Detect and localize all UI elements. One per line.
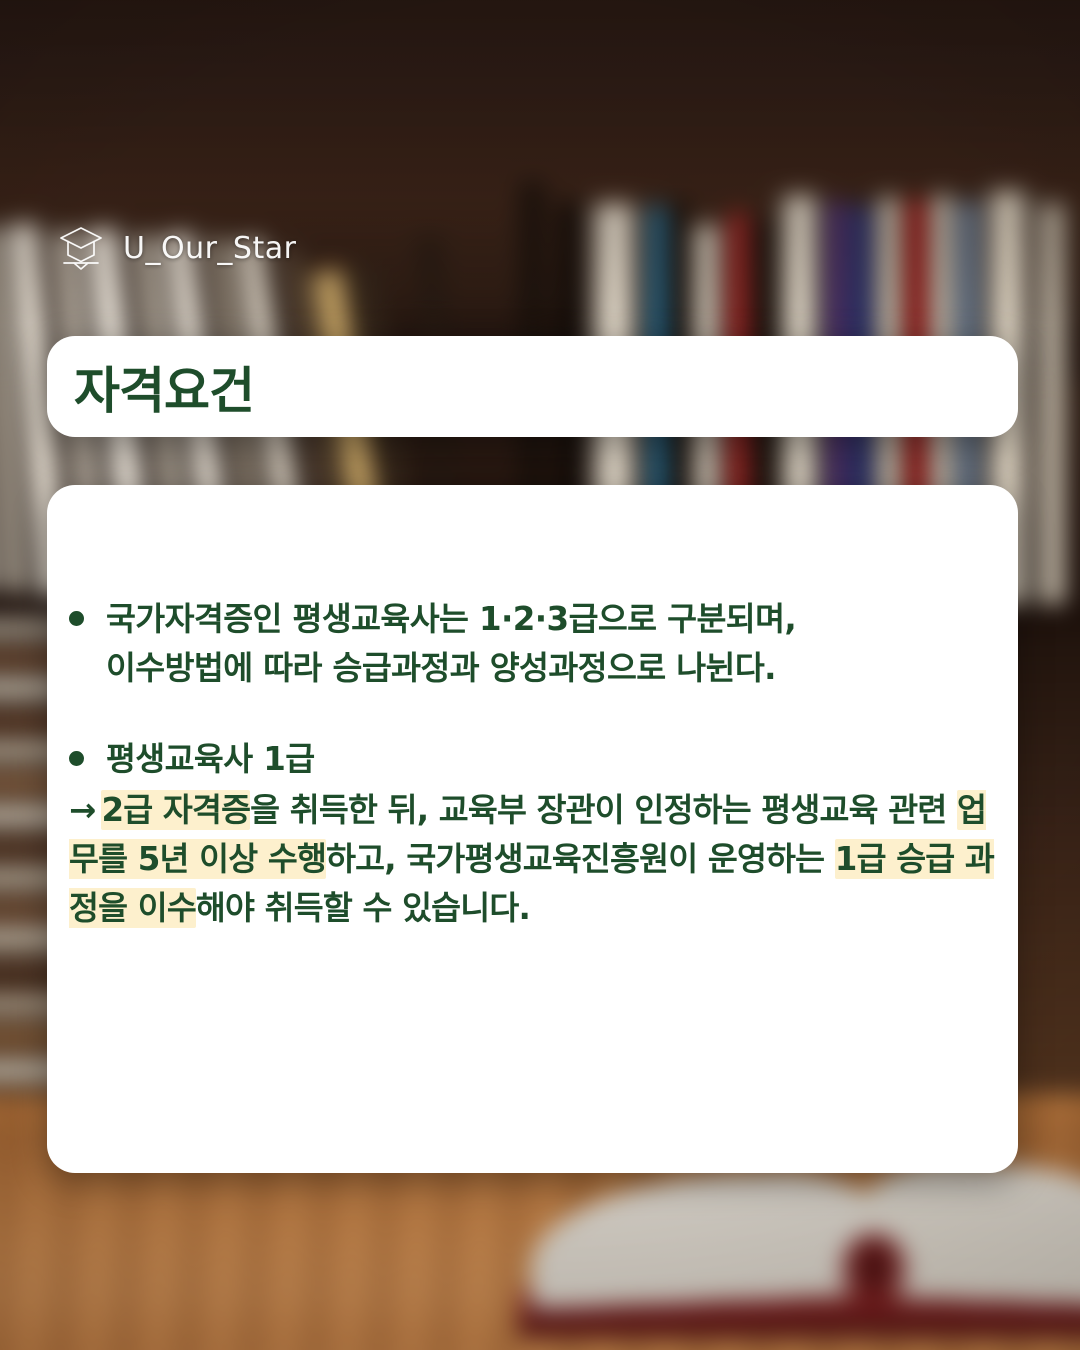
content-card: 국가자격증인 평생교육사는 1·2·3급으로 구분되며, 이수방법에 따라 승급… <box>47 485 1018 1173</box>
bullet-1-line-1: 국가자격증인 평생교육사는 1·2·3급으로 구분되며, <box>106 595 796 644</box>
bullet-dot-icon <box>69 611 84 626</box>
bullet-2-line-1: 평생교육사 1급 <box>106 735 315 784</box>
title-card: 자격요건 <box>47 336 1018 437</box>
paragraph-text: 을 취득한 뒤, 교육부 장관이 인정하는 평생교육 관련 <box>250 791 957 829</box>
graduation-cap-book-icon <box>55 222 107 274</box>
open-book-left-pages <box>527 1167 882 1309</box>
arrow-icon: → <box>69 791 95 829</box>
arrow-paragraph-text: 2급 자격증을 취득한 뒤, 교육부 장관이 인정하는 평생교육 관련 업무를 … <box>69 790 994 928</box>
paragraph-text: 해야 취득할 수 있습니다. <box>196 889 530 927</box>
brand-logo: U_Our_Star <box>55 222 296 274</box>
bullet-1-line-2: 이수방법에 따라 승급과정과 양성과정으로 나뉜다. <box>106 644 796 693</box>
book-spine <box>1034 203 1070 604</box>
spacer <box>69 693 996 735</box>
bullet-dot-icon <box>69 751 84 766</box>
post-canvas: U_Our_Star 자격요건 국가자격증인 평생교육사는 1·2·3급으로 구… <box>0 0 1080 1350</box>
highlighted-text: 2급 자격증 <box>101 790 250 830</box>
page-title: 자격요건 <box>74 351 254 423</box>
arrow-paragraph: →2급 자격증을 취득한 뒤, 교육부 장관이 인정하는 평생교육 관련 업무를… <box>69 786 996 933</box>
paragraph-text: 하고, 국가평생교육진흥원이 운영하는 <box>326 840 835 878</box>
bullet-item-2: 평생교육사 1급 <box>69 735 996 784</box>
bullet-item-1: 국가자격증인 평생교육사는 1·2·3급으로 구분되며, 이수방법에 따라 승급… <box>69 595 996 693</box>
brand-name: U_Our_Star <box>123 231 296 266</box>
open-book-gutter <box>837 1234 911 1319</box>
